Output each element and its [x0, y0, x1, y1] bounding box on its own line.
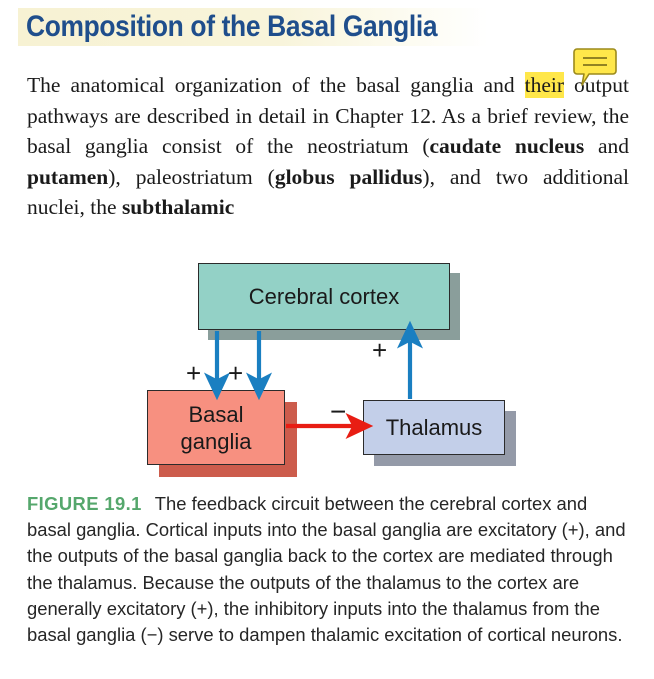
- term-subthalamic: subthalamic: [122, 195, 234, 219]
- body-text-segment-1: The anatomical organization of the basal…: [27, 73, 525, 97]
- sign-minus-basal-to-thalamus: −: [330, 398, 346, 426]
- figure-caption-label: FIGURE 19.1: [27, 493, 142, 514]
- highlighted-word[interactable]: their: [525, 72, 564, 98]
- figure-caption: FIGURE 19.1The feedback circuit between …: [27, 491, 631, 648]
- diagram-arrows: [0, 245, 654, 480]
- page-title: Composition of the Basal Ganglia: [26, 9, 554, 45]
- term-globus-pallidus: globus pallidus: [275, 165, 423, 189]
- body-paragraph: The anatomical organization of the basal…: [27, 70, 629, 223]
- figure-caption-text: The feedback circuit between the cerebra…: [27, 493, 626, 645]
- body-text-segment-4: ), paleostriatum (: [108, 165, 275, 189]
- sign-plus-cortex-to-basal-1: +: [186, 360, 201, 386]
- comment-note-icon[interactable]: [573, 47, 617, 87]
- figure-diagram: Cerebral cortex Basal ganglia Thalamus +…: [0, 245, 654, 480]
- term-putamen: putamen: [27, 165, 108, 189]
- sign-plus-cortex-to-basal-2: +: [228, 360, 243, 386]
- sign-plus-thalamus-to-cortex: +: [372, 337, 387, 363]
- term-caudate-nucleus: caudate nucleus: [430, 134, 585, 158]
- body-text-segment-3: and: [584, 134, 629, 158]
